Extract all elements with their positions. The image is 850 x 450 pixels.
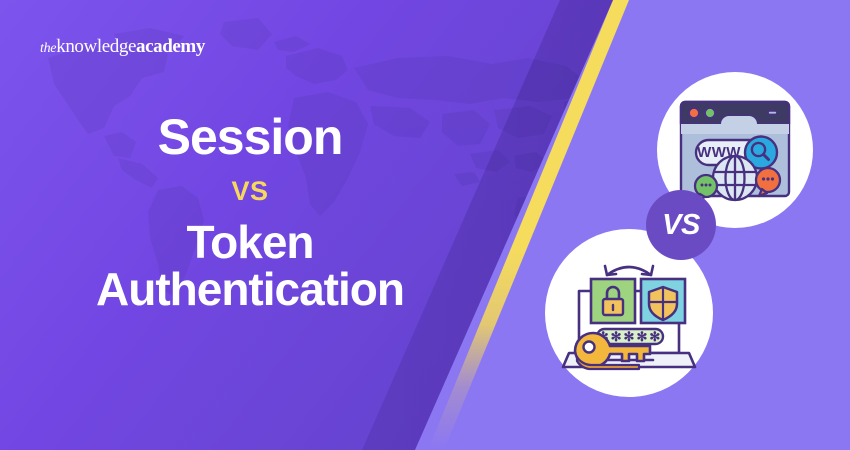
banner-canvas: theknowledgeacademy Session VS Token Aut… — [0, 0, 850, 450]
traffic-dot-green — [705, 108, 715, 118]
logo-knowledge: knowledge — [56, 36, 136, 57]
logo-the: the — [40, 41, 56, 56]
headline-line-authentication: Authentication — [0, 266, 500, 313]
headline-vs-label: VS — [0, 178, 500, 205]
shield-card — [641, 279, 685, 323]
traffic-dot-orange — [689, 108, 699, 118]
padlock-card — [591, 279, 635, 323]
vs-badge: VS — [646, 190, 716, 260]
logo-academy: academy — [136, 36, 205, 57]
headline-line-token: Token — [0, 219, 500, 266]
vs-badge-label: VS — [662, 211, 700, 240]
headline-block: Session VS Token Authentication — [0, 112, 500, 313]
brand-logo[interactable]: theknowledgeacademy — [40, 37, 205, 56]
headline-line-session: Session — [0, 112, 500, 162]
